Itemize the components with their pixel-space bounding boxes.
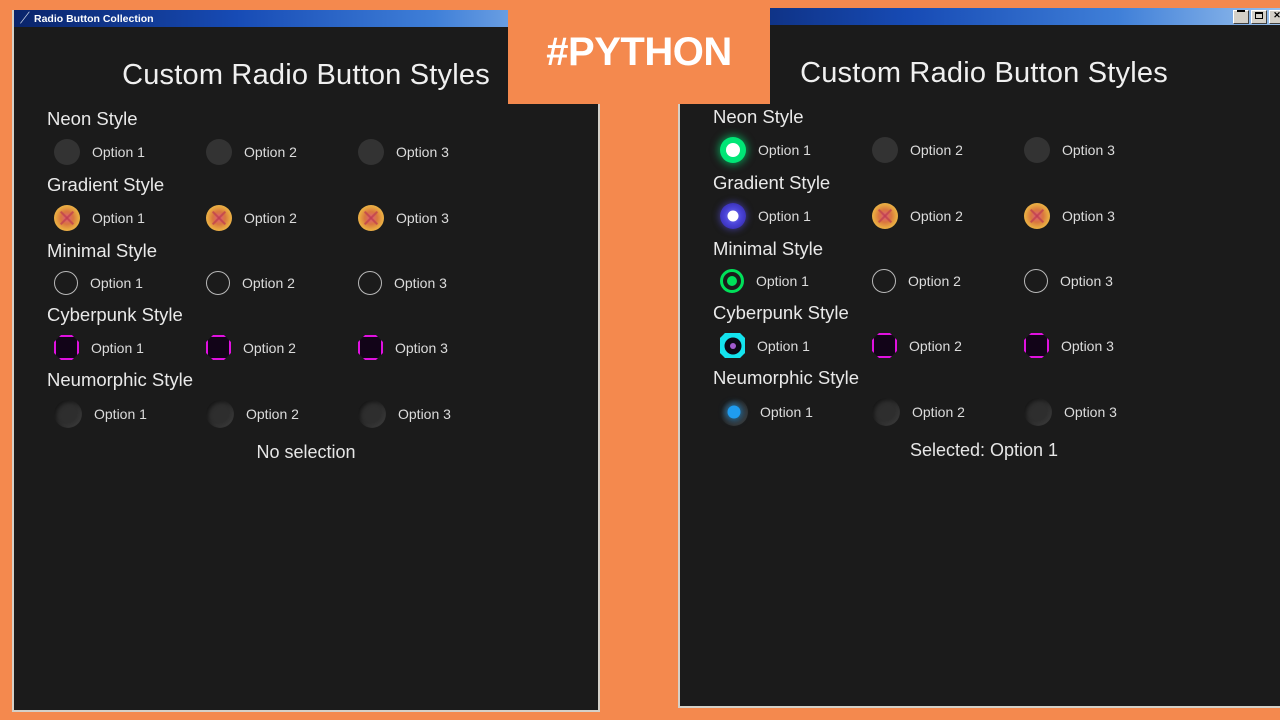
radio-label: Option 1 [90,275,143,291]
maximize-button[interactable] [1251,10,1267,24]
radio-min-1-icon[interactable] [54,271,78,295]
radio-neon-1-icon[interactable] [54,139,80,165]
radio-label: Option 2 [910,208,963,224]
radio-label: Option 1 [760,404,813,420]
radio-label: Option 1 [92,144,145,160]
close-icon: ✕ [1273,11,1280,20]
group-grad: Gradient StyleOption 1Option 2Option 3 [680,172,1280,229]
radio-cyber-3-icon[interactable] [1024,333,1049,358]
radio-grad-2-icon[interactable] [206,205,232,231]
group-title-neon: Neon Style [713,106,1280,128]
radio-option[interactable]: Option 2 [206,271,358,295]
radio-label: Option 2 [908,273,961,289]
options-row: Option 1Option 2Option 3 [680,203,1280,229]
radio-cyber-2-icon[interactable] [206,335,231,360]
radio-neon-2-icon[interactable] [206,139,232,165]
style-groups: Neon StyleOption 1Option 2Option 3Gradie… [680,96,1280,426]
options-row: Option 1Option 2Option 3 [14,400,598,428]
radio-option[interactable]: Option 3 [358,335,510,360]
maximize-icon [1255,12,1263,19]
radio-min-3-icon[interactable] [358,271,382,295]
radio-label: Option 1 [92,210,145,226]
group-min: Minimal StyleOption 1Option 2Option 3 [680,238,1280,293]
app-icon: ╱ [18,13,30,25]
radio-neu-3-icon[interactable] [1024,398,1052,426]
radio-option[interactable]: Option 3 [1024,203,1176,229]
radio-neon-3-icon[interactable] [1024,137,1050,163]
window-left: ╱Radio Button CollectionCustom Radio But… [12,10,600,712]
radio-min-1-icon[interactable] [720,269,744,293]
banner-text: #PYTHON [546,30,731,75]
radio-cyber-2-icon[interactable] [872,333,897,358]
radio-min-2-icon[interactable] [206,271,230,295]
radio-neon-3-icon[interactable] [358,139,384,165]
close-button[interactable]: ✕ [1269,10,1280,24]
group-title-min: Minimal Style [713,238,1280,260]
options-row: Option 1Option 2Option 3 [14,205,598,231]
radio-label: Option 3 [396,210,449,226]
radio-option[interactable]: Option 2 [872,137,1024,163]
window-title: n Collection [700,11,1233,23]
radio-option[interactable]: Option 2 [206,400,358,428]
radio-label: Option 2 [243,340,296,356]
radio-neu-1-icon[interactable] [720,398,748,426]
group-grad: Gradient StyleOption 1Option 2Option 3 [14,174,598,231]
options-row: Option 1Option 2Option 3 [14,335,598,360]
radio-label: Option 2 [244,210,297,226]
radio-label: Option 3 [1060,273,1113,289]
radio-label: Option 1 [756,273,809,289]
group-neon: Neon StyleOption 1Option 2Option 3 [680,106,1280,163]
radio-label: Option 2 [910,142,963,158]
radio-option[interactable]: Option 3 [358,205,510,231]
titlebar-right[interactable]: ╱n Collection✕ [680,8,1280,25]
group-cyber: Cyberpunk StyleOption 1Option 2Option 3 [680,302,1280,358]
radio-label: Option 3 [394,275,447,291]
radio-label: Option 2 [912,404,965,420]
radio-option[interactable]: Option 1 [54,400,206,428]
status-text: Selected: Option 1 [680,440,1280,461]
radio-neu-2-icon[interactable] [206,400,234,428]
radio-option[interactable]: Option 1 [54,139,206,165]
radio-neon-2-icon[interactable] [872,137,898,163]
radio-label: Option 3 [1061,338,1114,354]
options-row: Option 1Option 2Option 3 [680,269,1280,293]
radio-option[interactable]: Option 2 [206,335,358,360]
group-neu: Neumorphic StyleOption 1Option 2Option 3 [14,369,598,428]
group-neu: Neumorphic StyleOption 1Option 2Option 3 [680,367,1280,426]
radio-label: Option 3 [1062,208,1115,224]
radio-option[interactable]: Option 3 [1024,333,1176,358]
status-text: No selection [14,442,598,463]
radio-cyber-1-icon[interactable] [720,333,745,358]
group-title-neu: Neumorphic Style [47,369,598,391]
group-cyber: Cyberpunk StyleOption 1Option 2Option 3 [14,304,598,360]
radio-grad-1-icon[interactable] [720,203,746,229]
radio-grad-2-icon[interactable] [872,203,898,229]
radio-label: Option 2 [909,338,962,354]
radio-neu-1-icon[interactable] [54,400,82,428]
window-right: ╱n Collection✕Custom Radio Button Styles… [678,8,1280,708]
radio-option[interactable]: Option 1 [720,398,872,426]
radio-neu-3-icon[interactable] [358,400,386,428]
radio-grad-3-icon[interactable] [358,205,384,231]
radio-grad-3-icon[interactable] [1024,203,1050,229]
radio-option[interactable]: Option 2 [872,333,1024,358]
group-neon: Neon StyleOption 1Option 2Option 3 [14,108,598,165]
radio-option[interactable]: Option 1 [720,269,872,293]
options-row: Option 1Option 2Option 3 [680,137,1280,163]
radio-option[interactable]: Option 3 [1024,398,1176,426]
radio-label: Option 3 [1062,142,1115,158]
radio-cyber-1-icon[interactable] [54,335,79,360]
group-min: Minimal StyleOption 1Option 2Option 3 [14,240,598,295]
page-title: Custom Radio Button Styles [680,25,1280,96]
radio-option[interactable]: Option 1 [720,203,872,229]
radio-option[interactable]: Option 3 [358,271,510,295]
radio-label: Option 1 [758,142,811,158]
group-title-grad: Gradient Style [713,172,1280,194]
radio-min-2-icon[interactable] [872,269,896,293]
radio-option[interactable]: Option 1 [54,335,206,360]
radio-label: Option 1 [94,406,147,422]
options-row: Option 1Option 2Option 3 [14,271,598,295]
radio-label: Option 1 [757,338,810,354]
group-title-min: Minimal Style [47,240,598,262]
group-title-neon: Neon Style [47,108,598,130]
radio-option[interactable]: Option 2 [872,269,1024,293]
radio-label: Option 3 [398,406,451,422]
radio-neon-1-icon[interactable] [720,137,746,163]
radio-option[interactable]: Option 3 [358,139,510,165]
style-groups: Neon StyleOption 1Option 2Option 3Gradie… [14,98,598,428]
radio-option[interactable]: Option 1 [720,333,872,358]
radio-label: Option 1 [91,340,144,356]
radio-option[interactable]: Option 2 [206,205,358,231]
radio-min-3-icon[interactable] [1024,269,1048,293]
radio-neu-2-icon[interactable] [872,398,900,426]
radio-option[interactable]: Option 2 [872,203,1024,229]
radio-option[interactable]: Option 1 [54,271,206,295]
group-title-neu: Neumorphic Style [713,367,1280,389]
radio-option[interactable]: Option 2 [872,398,1024,426]
client-area-right: Custom Radio Button StylesNeon StyleOpti… [680,25,1280,706]
radio-label: Option 2 [246,406,299,422]
window-controls: ✕ [1233,10,1280,24]
radio-option[interactable]: Option 3 [358,400,510,428]
radio-option[interactable]: Option 3 [1024,269,1176,293]
minimize-button[interactable] [1233,10,1249,24]
radio-label: Option 3 [395,340,448,356]
radio-label: Option 2 [242,275,295,291]
minimize-icon [1237,10,1245,12]
radio-label: Option 3 [1064,404,1117,420]
radio-cyber-3-icon[interactable] [358,335,383,360]
options-row: Option 1Option 2Option 3 [680,333,1280,358]
radio-grad-1-icon[interactable] [54,205,80,231]
radio-option[interactable]: Option 2 [206,139,358,165]
radio-option[interactable]: Option 3 [1024,137,1176,163]
radio-label: Option 2 [244,144,297,160]
radio-option[interactable]: Option 1 [720,137,872,163]
group-title-cyber: Cyberpunk Style [47,304,598,326]
options-row: Option 1Option 2Option 3 [680,398,1280,426]
options-row: Option 1Option 2Option 3 [14,139,598,165]
group-title-cyber: Cyberpunk Style [713,302,1280,324]
radio-option[interactable]: Option 1 [54,205,206,231]
client-area-left: Custom Radio Button StylesNeon StyleOpti… [14,27,598,710]
radio-label: Option 1 [758,208,811,224]
group-title-grad: Gradient Style [47,174,598,196]
radio-label: Option 3 [396,144,449,160]
python-hashtag-banner: #PYTHON [508,0,770,104]
